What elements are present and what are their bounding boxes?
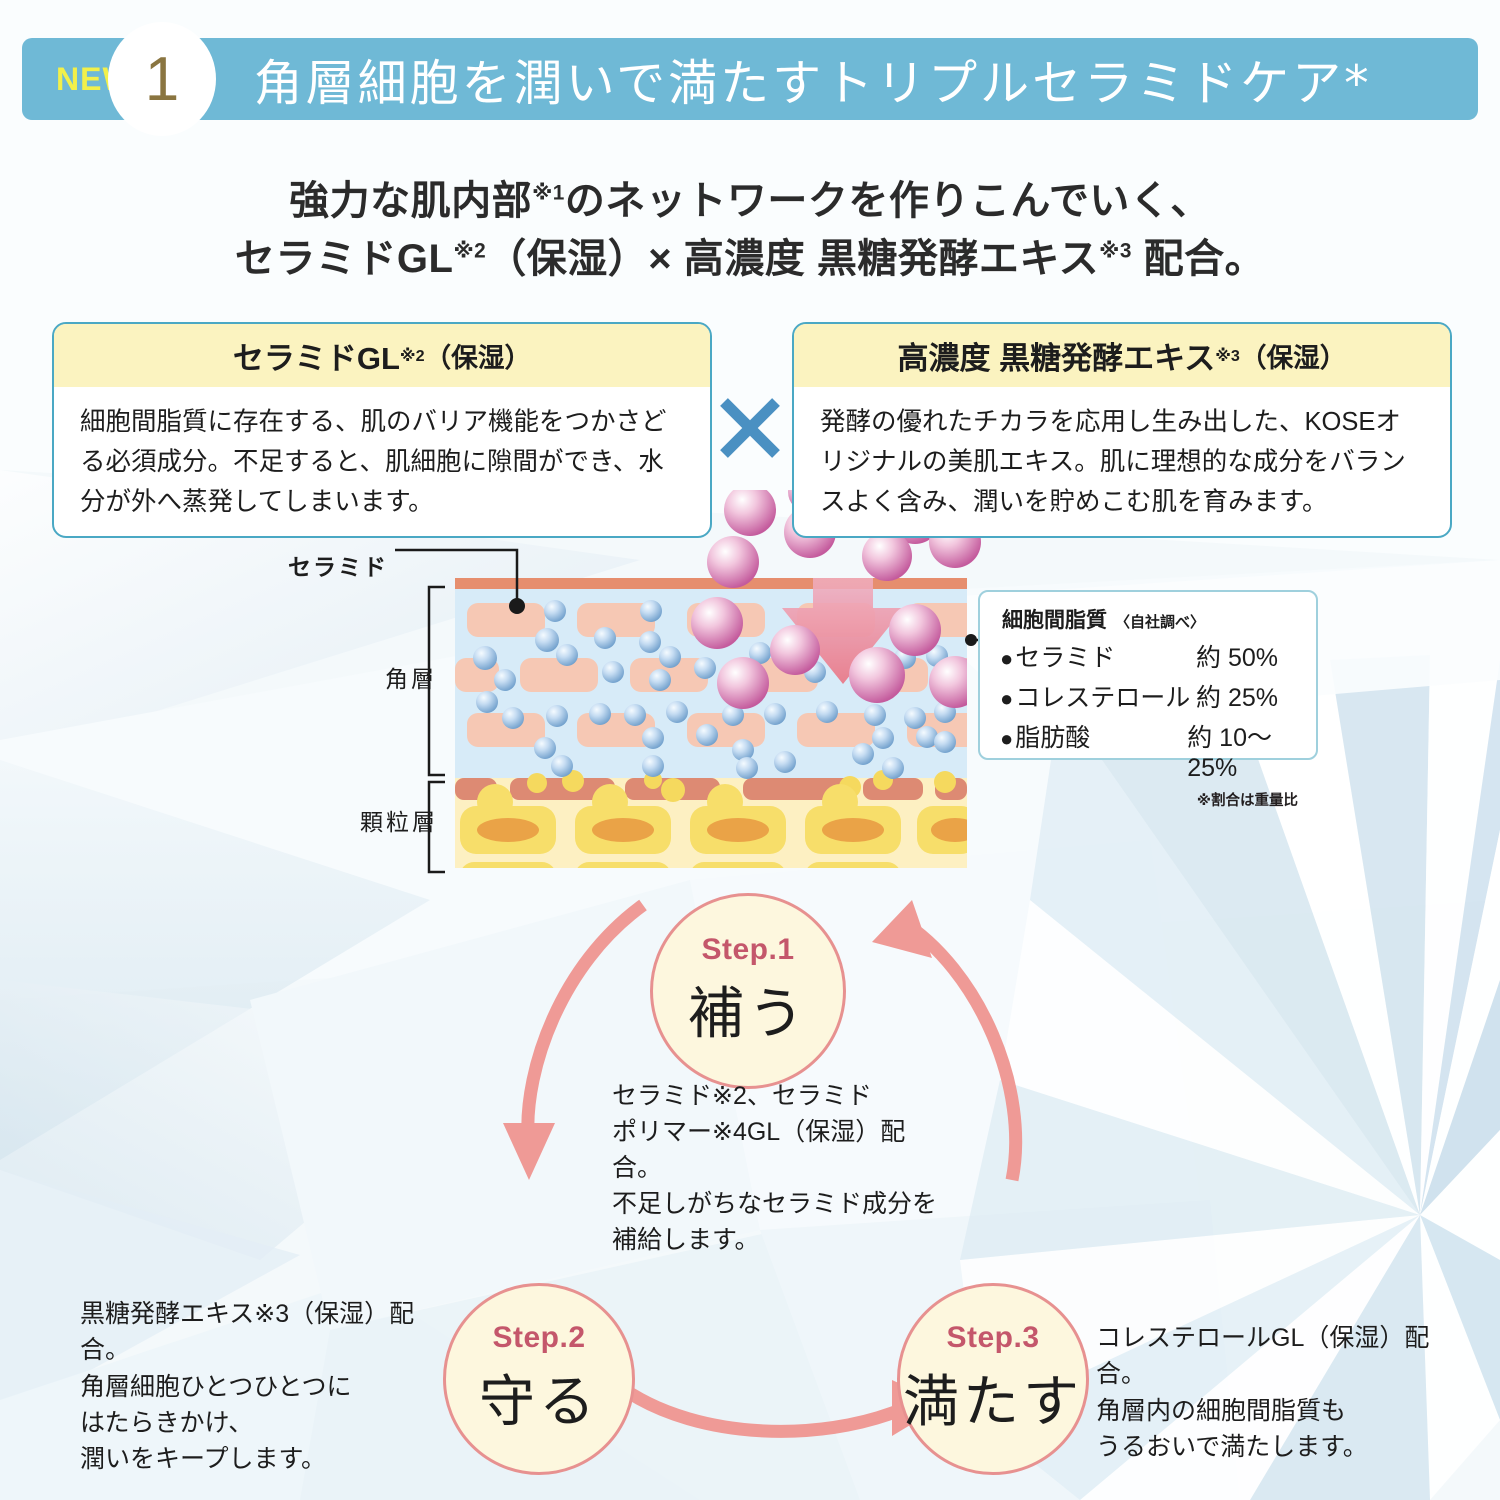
header-banner: NEW 角層細胞を潤いで満たすトリプルセラミドケア* (22, 38, 1478, 120)
step3-line: コレステロールGL（保湿）配合。 (1096, 1320, 1436, 1393)
step-1-label: Step.1 (701, 933, 794, 967)
ceramide-callout-label: セラミド (288, 548, 388, 582)
section-number: 1 (145, 44, 179, 115)
step-circle-1: Step.1 補う (650, 893, 846, 1089)
subtitle-line1-a: 強力な肌内部 (289, 179, 532, 223)
legend-name-text: セラミド (1015, 644, 1115, 672)
subtitle-block: 強力な肌内部※1のネットワークを作りこんでいく、 セラミドGL※2（保湿）× 高… (0, 172, 1500, 288)
legend-row: ●コレステロール 約 25% (980, 678, 1316, 714)
step3-line: 角層内の細胞間脂質も (1096, 1393, 1436, 1429)
step-circle-3: Step.3 満たす (897, 1283, 1089, 1475)
step-2-word: 守る (479, 1357, 599, 1438)
step2-line: 角層細胞ひとつひとつに (80, 1369, 420, 1405)
card-title-suffix: （保湿） (1240, 336, 1347, 375)
cycle-center-line: 不足しがちなセラミド成分を (612, 1186, 952, 1222)
legend-item-name: ●脂肪酸 (1000, 718, 1187, 754)
page-title: 角層細胞を潤いで満たすトリプルセラミドケア* (254, 44, 1372, 115)
card-title-footnote-mark: ※3 (1215, 346, 1240, 366)
bullet-icon: ● (1000, 686, 1013, 711)
step-3-label: Step.3 (946, 1321, 1039, 1355)
ingredient-card-ceramide: セラミドGL※2（保湿） 細胞間脂質に存在する、肌のバリア機能をつかさどる必須成… (52, 322, 712, 538)
legend-row: ●脂肪酸 約 10〜25% (980, 718, 1316, 783)
step3-line: うるおいで満たします。 (1096, 1429, 1436, 1465)
layer-label-stratum-corneum: 角層 (385, 660, 437, 694)
bullet-icon: ● (1000, 726, 1013, 751)
card-title-ceramide: セラミドGL※2（保湿） (54, 324, 710, 387)
footnote-mark-3: ※3 (1099, 240, 1132, 263)
step-circle-2: Step.2 守る (443, 1283, 635, 1475)
subtitle-line2-a: セラミドGL (235, 237, 454, 281)
step2-line: 黒糖発酵エキス※3（保湿）配合。 (80, 1296, 420, 1369)
cycle-center-line: セラミド※2、セラミド (612, 1078, 952, 1114)
legend-item-value: 約 10〜25% (1187, 718, 1316, 783)
card-title-main: セラミドGL (233, 333, 400, 378)
step-1-word: 補う (688, 969, 808, 1050)
legend-item-value: 約 25% (1196, 678, 1278, 714)
bullet-icon: ● (1000, 646, 1013, 671)
card-title-footnote-mark: ※2 (400, 346, 425, 366)
legend-item-name: ●セラミド (1000, 638, 1196, 674)
step3-description: コレステロールGL（保湿）配合。 角層内の細胞間脂質も うるおいで満たします。 (1096, 1320, 1436, 1465)
subtitle-line2-c: 配合。 (1132, 237, 1265, 281)
card-body-extract: 発酵の優れたチカラを応用し生み出した、KOSEオリジナルの美肌エキス。肌に理想的… (794, 387, 1450, 522)
card-body-ceramide: 細胞間脂質に存在する、肌のバリア機能をつかさどる必須成分。不足すると、肌細胞に隙… (54, 387, 710, 522)
layer-label-granular: 顆粒層 (360, 803, 438, 837)
legend-name-text: コレステロール (1015, 684, 1190, 712)
cycle-center-line: ポリマー※4GL（保湿）配合。 (612, 1114, 952, 1186)
footnote-mark-1: ※1 (532, 182, 565, 205)
card-title-suffix: （保湿） (425, 336, 532, 375)
multiply-icon (714, 392, 786, 464)
legend-title-note: 〈自社調べ〉 (1115, 614, 1205, 631)
step2-line: はたらきかけ、 (80, 1405, 420, 1441)
legend-row: ●セラミド 約 50% (980, 638, 1316, 674)
subtitle-line1-b: のネットワークを作りこんでいく、 (565, 179, 1211, 223)
step-2-label: Step.2 (492, 1321, 585, 1355)
legend-item-name: ●コレステロール (1000, 678, 1196, 714)
legend-title: 細胞間脂質 (1002, 609, 1107, 632)
step2-description: 黒糖発酵エキス※3（保湿）配合。 角層細胞ひとつひとつに はたらきかけ、 潤いを… (80, 1296, 420, 1477)
footnote-mark-2: ※2 (453, 240, 486, 263)
legend-footnote: ※割合は重量比 (980, 789, 1316, 810)
step2-line: 潤いをキープします。 (80, 1441, 420, 1477)
cycle-center-description: セラミド※2、セラミド ポリマー※4GL（保湿）配合。 不足しがちなセラミド成分… (612, 1078, 952, 1258)
legend-item-value: 約 50% (1196, 638, 1278, 674)
cycle-center-line: 補給します。 (612, 1222, 952, 1258)
subtitle-line2-b: （保湿）× 高濃度 黒糖発酵エキス (486, 237, 1099, 281)
step-3-word: 満たす (903, 1357, 1083, 1438)
card-title-extract: 高濃度 黒糖発酵エキス※3（保湿） (794, 324, 1450, 387)
intercellular-lipid-legend: 細胞間脂質〈自社調べ〉 ●セラミド 約 50% ●コレステロール 約 25% ●… (978, 590, 1318, 760)
legend-title-row: 細胞間脂質〈自社調べ〉 (980, 604, 1316, 634)
section-number-badge: 1 (108, 22, 216, 136)
legend-name-text: 脂肪酸 (1015, 724, 1090, 752)
subtitle-line-2: セラミドGL※2（保湿）× 高濃度 黒糖発酵エキス※3 配合。 (0, 230, 1500, 288)
ingredient-card-extract: 高濃度 黒糖発酵エキス※3（保湿） 発酵の優れたチカラを応用し生み出した、KOS… (792, 322, 1452, 538)
subtitle-line-1: 強力な肌内部※1のネットワークを作りこんでいく、 (0, 172, 1500, 230)
card-title-main: 高濃度 黒糖発酵エキス (898, 333, 1216, 378)
